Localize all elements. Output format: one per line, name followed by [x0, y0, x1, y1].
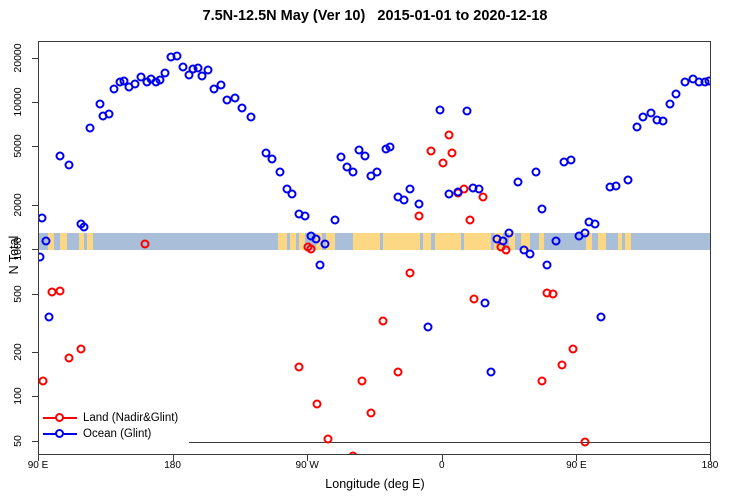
data-point — [275, 168, 284, 177]
data-point — [501, 246, 510, 255]
data-point — [558, 361, 567, 370]
data-point — [633, 122, 642, 131]
y-tick-label: 20000 — [12, 43, 24, 72]
landmass-shape — [79, 233, 83, 250]
data-point — [549, 289, 558, 298]
legend-marker-ocean — [43, 428, 77, 440]
y-tick-label: 5000 — [12, 135, 24, 158]
data-point — [64, 354, 73, 363]
landmass-shape — [625, 233, 631, 250]
y-tick-mark — [32, 58, 38, 59]
data-point — [672, 90, 681, 99]
data-point — [525, 249, 534, 258]
data-point — [79, 222, 88, 231]
data-point — [438, 159, 447, 168]
data-point — [453, 187, 462, 196]
data-point — [543, 260, 552, 269]
landmass-shape — [60, 233, 67, 250]
legend: Land (Nadir&Glint) Ocean (Glint) — [39, 406, 189, 446]
data-point — [316, 260, 325, 269]
data-point — [426, 147, 435, 156]
data-point — [311, 234, 320, 243]
data-point — [597, 313, 606, 322]
data-point — [349, 452, 358, 456]
data-point — [361, 151, 370, 160]
data-point — [301, 212, 310, 221]
data-point — [105, 110, 114, 119]
data-point — [513, 178, 522, 187]
data-point — [38, 252, 45, 261]
data-point — [405, 185, 414, 194]
y-tick-mark — [32, 352, 38, 353]
data-point — [537, 205, 546, 214]
x-tick-label: 90 E — [28, 460, 49, 471]
data-point — [435, 105, 444, 114]
data-point — [172, 52, 181, 61]
y-tick-mark — [32, 102, 38, 103]
y-tick-mark — [32, 294, 38, 295]
chart-title: 7.5N-12.5N May (Ver 10) 2015-01-01 to 20… — [0, 8, 750, 24]
data-point — [447, 148, 456, 157]
data-point — [474, 185, 483, 194]
y-tick-label: 100 — [12, 388, 24, 406]
data-point — [386, 143, 395, 152]
data-point — [414, 200, 423, 209]
x-tick-label: 90 E — [566, 460, 587, 471]
legend-label-land: Land (Nadir&Glint) — [83, 412, 178, 424]
data-point — [307, 244, 316, 253]
data-point — [567, 156, 576, 165]
data-point — [591, 220, 600, 229]
data-point — [414, 212, 423, 221]
data-point — [64, 160, 73, 169]
data-point — [462, 107, 471, 116]
data-point — [399, 195, 408, 204]
landmass-shape — [87, 233, 93, 250]
data-point — [405, 269, 414, 278]
data-point — [612, 181, 621, 190]
x-tick-label: 180 — [702, 460, 719, 471]
y-tick-mark — [32, 146, 38, 147]
data-point — [552, 237, 561, 246]
data-point — [313, 400, 322, 409]
legend-item-land: Land (Nadir&Glint) — [43, 409, 178, 426]
legend-item-ocean: Ocean (Glint) — [43, 425, 151, 442]
y-tick-label: 10000 — [12, 87, 24, 116]
data-point — [287, 190, 296, 199]
data-point — [423, 323, 432, 332]
data-point — [498, 237, 507, 246]
data-point — [331, 216, 340, 225]
data-point — [580, 437, 589, 446]
data-point — [537, 376, 546, 385]
data-point — [337, 153, 346, 162]
data-point — [580, 229, 589, 238]
data-point — [320, 240, 329, 249]
data-point — [38, 214, 46, 223]
data-point — [378, 317, 387, 326]
y-tick-label: 50 — [12, 435, 24, 447]
world-map-strip — [39, 233, 710, 250]
landmass-shape — [618, 233, 622, 250]
landmass-shape — [435, 233, 460, 250]
data-point — [85, 123, 94, 132]
data-point — [504, 229, 513, 238]
landmass-shape — [290, 233, 296, 250]
data-point — [349, 168, 358, 177]
landmass-shape — [464, 233, 491, 250]
legend-marker-land — [43, 412, 77, 424]
y-axis-label: N Total — [7, 215, 21, 295]
y-tick-mark — [32, 249, 38, 250]
x-tick-label: 90 W — [296, 460, 319, 471]
y-tick-mark — [32, 205, 38, 206]
data-point — [230, 94, 239, 103]
x-tick-label: 180 — [164, 460, 181, 471]
landmass-shape — [353, 233, 380, 250]
landmass-shape — [598, 233, 605, 250]
data-point — [367, 409, 376, 418]
data-point — [479, 193, 488, 202]
x-axis-label: Longitude (deg E) — [0, 477, 750, 491]
x-tick-label: 0 — [439, 460, 445, 471]
data-point — [444, 130, 453, 139]
data-point — [624, 176, 633, 185]
y-tick-label: 200 — [12, 343, 24, 361]
data-point — [470, 294, 479, 303]
y-tick-mark — [32, 441, 38, 442]
data-point — [217, 81, 226, 90]
data-point — [666, 99, 675, 108]
data-point — [42, 237, 51, 246]
data-point — [531, 168, 540, 177]
data-point — [705, 76, 712, 85]
data-point — [247, 113, 256, 122]
landmass-shape — [423, 233, 430, 250]
landmass-shape — [383, 233, 420, 250]
chart-figure: 7.5N-12.5N May (Ver 10) 2015-01-01 to 20… — [0, 0, 750, 500]
data-point — [203, 65, 212, 74]
data-point — [486, 367, 495, 376]
data-point — [141, 240, 150, 249]
data-point — [465, 216, 474, 225]
data-point — [76, 344, 85, 353]
y-tick-label: 2000 — [12, 193, 24, 216]
data-point — [658, 117, 667, 126]
landmass-shape — [278, 233, 287, 250]
data-point — [568, 344, 577, 353]
legend-label-ocean: Ocean (Glint) — [83, 428, 151, 440]
data-point — [160, 69, 169, 78]
data-point — [358, 376, 367, 385]
plot-area — [38, 41, 711, 455]
data-point — [268, 154, 277, 163]
data-point — [444, 190, 453, 199]
data-point — [55, 286, 64, 295]
data-point — [393, 367, 402, 376]
data-point — [295, 363, 304, 372]
data-point — [39, 376, 48, 385]
landmass-shape — [539, 233, 545, 250]
data-point — [96, 100, 105, 109]
y-tick-mark — [32, 396, 38, 397]
data-point — [238, 104, 247, 113]
data-point — [372, 168, 381, 177]
data-point — [45, 313, 54, 322]
data-point — [323, 435, 332, 444]
data-point — [55, 151, 64, 160]
data-point — [480, 298, 489, 307]
